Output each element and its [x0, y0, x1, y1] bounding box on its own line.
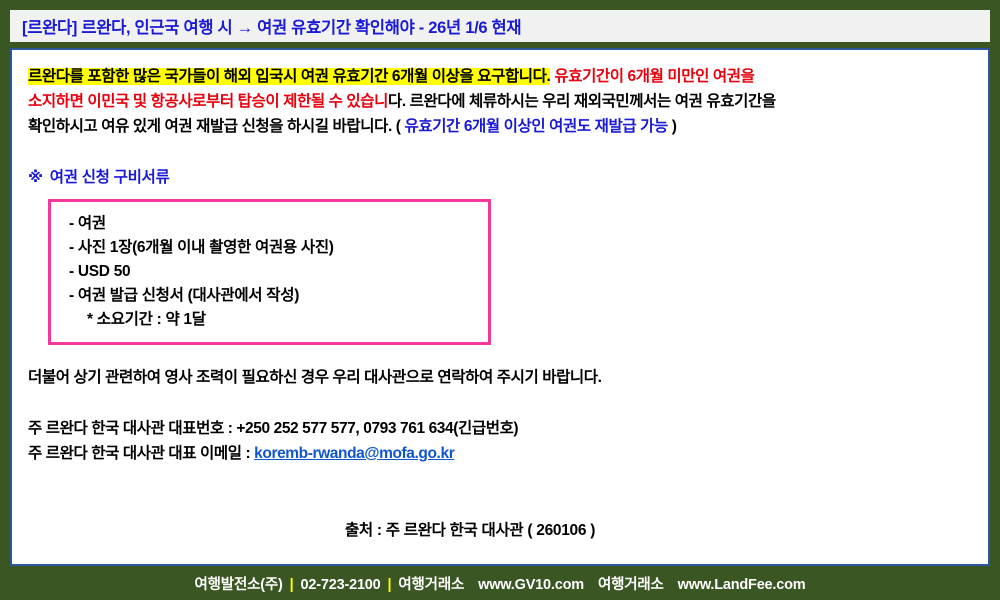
footer-broker-2-name: 여행거래소: [598, 577, 664, 593]
notice-red-text-1: 유효기간이 6개월 미만인 여권을: [550, 68, 754, 85]
embassy-phone-line: 주 르완다 한국 대사관 대표번호 : +250 252 577 577, 07…: [28, 416, 972, 441]
footer-text: 여행발전소(주)|02-723-2100|여행거래소www.GV10.com여행…: [195, 573, 806, 594]
footer-company: 여행발전소(주): [195, 577, 283, 593]
footer-phone: 02-723-2100: [301, 577, 381, 593]
requirement-item: - 사진 1장(6개월 이내 촬영한 여권용 사진): [69, 236, 488, 260]
notice-line-1: 르완다를 포함한 많은 국가들이 해외 입국시 여권 유효기간 6개월 이상을 …: [28, 64, 972, 89]
notice-line-3: 확인하시고 여유 있게 여권 재발급 신청을 하시길 바랍니다. ( 유효기간 …: [28, 114, 972, 139]
notice-black-text-3: 확인하시고 여유 있게 여권 재발급 신청을 하시길 바랍니다. (: [28, 118, 404, 135]
requirement-item: - 여권: [69, 212, 488, 236]
page-title-bar: [르완다] 르완다, 인근국 여행 시 → 여권 유효기간 확인해야 - 26년…: [10, 10, 990, 42]
requirements-box: - 여권 - 사진 1장(6개월 이내 촬영한 여권용 사진) - USD 50…: [48, 199, 491, 345]
embassy-contact-block: 주 르완다 한국 대사관 대표번호 : +250 252 577 577, 07…: [28, 416, 972, 466]
embassy-phone-value: +250 252 577 577, 0793 761 634(긴급번호): [236, 420, 518, 437]
embassy-phone-label: 주 르완다 한국 대사관 대표번호 :: [28, 420, 236, 437]
requirement-item-note: * 소요기간 : 약 1달: [69, 308, 488, 332]
requirement-item: - 여권 발급 신청서 (대사관에서 작성): [69, 284, 488, 308]
notice-highlighted-text: 르완다를 포함한 많은 국가들이 해외 입국시 여권 유효기간 6개월 이상을 …: [28, 68, 550, 85]
requirement-item: - USD 50: [69, 260, 488, 284]
footer-separator-2: |: [381, 577, 399, 593]
page-title: [르완다] 르완다, 인근국 여행 시 → 여권 유효기간 확인해야 - 26년…: [22, 14, 521, 38]
embassy-email-link[interactable]: koremb-rwanda@mofa.go.kr: [254, 445, 454, 462]
notice-black-text-2: 다. 르완다에 체류하시는 우리 재외국민께서는 여권 유효기간을: [388, 93, 776, 110]
footer-broker-1-site[interactable]: www.GV10.com: [478, 577, 584, 593]
requirements-heading: ※여권 신청 구비서류: [28, 165, 972, 187]
footer-broker-1-name: 여행거래소: [398, 577, 464, 593]
embassy-email-label: 주 르완다 한국 대사관 대표 이메일 :: [28, 445, 254, 462]
source-line: 출처 : 주 르완다 한국 대사관 ( 260106 ): [28, 518, 972, 540]
notice-paragraph: 르완다를 포함한 많은 국가들이 해외 입국시 여권 유효기간 6개월 이상을 …: [28, 64, 972, 139]
footer-broker-2-site[interactable]: www.LandFee.com: [678, 577, 806, 593]
footer-separator-1: |: [283, 577, 301, 593]
notice-line-2: 소지하면 이민국 및 항공사로부터 탑승이 제한될 수 있습니다. 르완다에 체…: [28, 89, 972, 114]
embassy-email-line: 주 르완다 한국 대사관 대표 이메일 : koremb-rwanda@mofa…: [28, 441, 972, 466]
notice-content-panel: 르완다를 포함한 많은 국가들이 해외 입국시 여권 유효기간 6개월 이상을 …: [10, 48, 990, 566]
notice-black-text-3-end: ): [668, 118, 677, 135]
notice-red-text-2: 소지하면 이민국 및 항공사로부터 탑승이 제한될 수 있습니: [28, 93, 388, 110]
requirements-heading-label: 여권 신청 구비서류: [50, 169, 170, 186]
notice-blue-text-3: 유효기간 6개월 이상인 여권도 재발급 가능: [404, 118, 667, 135]
reference-mark-icon: ※: [28, 169, 43, 186]
followup-paragraph: 더불어 상기 관련하여 영사 조력이 필요하신 경우 우리 대사관으로 연락하여…: [28, 365, 972, 390]
footer-bar: 여행발전소(주)|02-723-2100|여행거래소www.GV10.com여행…: [0, 566, 1000, 600]
